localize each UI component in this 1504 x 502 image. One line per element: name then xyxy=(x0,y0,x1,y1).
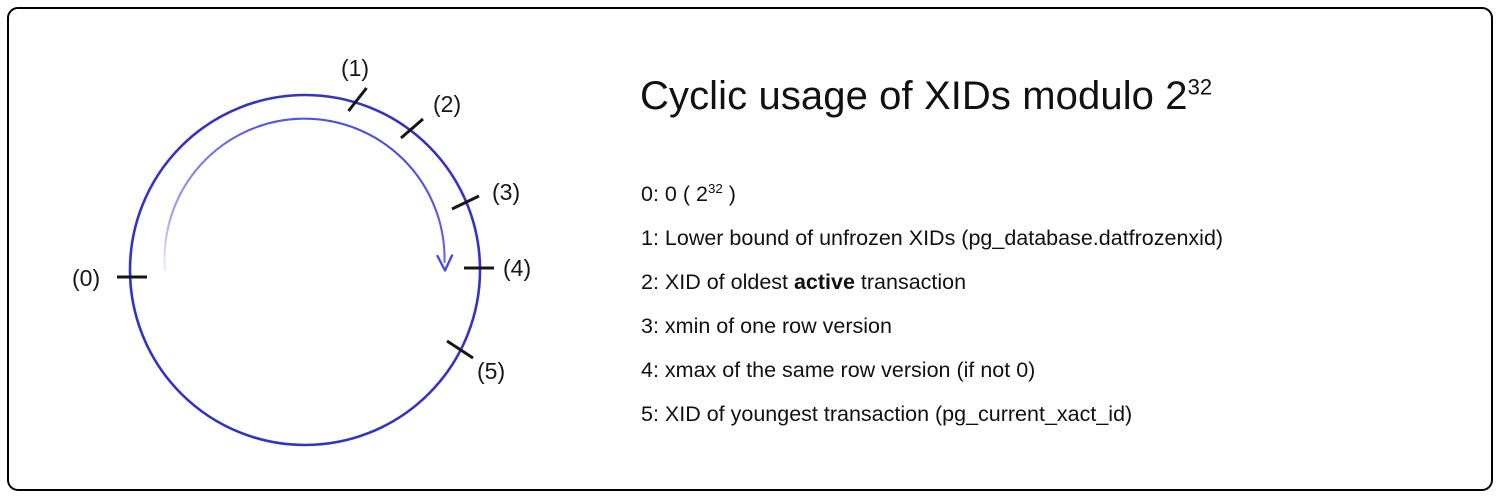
tick-mark-1 xyxy=(349,88,367,111)
xid-cycle-diagram: (0) (1) (2) (3) (4) (5) xyxy=(0,0,610,502)
legend-item-2-text: 2: XID of oldest xyxy=(641,270,794,294)
legend-list: 0: 0 ( 232 ) 1: Lower bound of unfrozen … xyxy=(641,172,1471,436)
tick-label-1: (1) xyxy=(341,55,369,81)
legend-item-0-text: 0: 0 ( 2 xyxy=(641,182,708,206)
text-column: Cyclic usage of XIDs modulo 232 0: 0 ( 2… xyxy=(640,0,1480,502)
legend-item-5: 5: XID of youngest transaction (pg_curre… xyxy=(641,392,1471,436)
tick-label-0: (0) xyxy=(72,265,100,291)
tick-mark-2 xyxy=(401,119,423,138)
legend-item-3: 3: xmin of one row version xyxy=(641,304,1471,348)
figure-title-exponent: 32 xyxy=(1188,75,1213,100)
figure-title: Cyclic usage of XIDs modulo 232 xyxy=(640,72,1212,120)
tick-label-5: (5) xyxy=(477,358,505,384)
tick-label-3: (3) xyxy=(492,179,520,205)
legend-item-1: 1: Lower bound of unfrozen XIDs (pg_data… xyxy=(641,216,1471,260)
direction-arc xyxy=(165,119,445,270)
legend-item-0-exponent: 32 xyxy=(708,181,723,196)
figure-title-text: Cyclic usage of XIDs modulo 2 xyxy=(640,74,1188,118)
tick-label-4: (4) xyxy=(503,255,531,281)
slide-root: (0) (1) (2) (3) (4) (5) Cyclic usage of … xyxy=(0,0,1504,502)
legend-item-3-text: 3: xmin of one row version xyxy=(641,314,892,338)
tick-mark-5 xyxy=(447,341,473,358)
circle-diagram-svg: (0) (1) (2) (3) (4) (5) xyxy=(0,0,610,502)
legend-item-0: 0: 0 ( 232 ) xyxy=(641,172,1471,216)
tick-label-2: (2) xyxy=(433,91,461,117)
cycle-circle xyxy=(130,95,480,445)
legend-item-0-tail: ) xyxy=(723,182,736,206)
legend-item-2: 2: XID of oldest active transaction xyxy=(641,260,1471,304)
legend-item-4: 4: xmax of the same row version (if not … xyxy=(641,348,1471,392)
legend-item-2-tail: transaction xyxy=(855,270,966,294)
legend-item-5-text: 5: XID of youngest transaction (pg_curre… xyxy=(641,402,1132,426)
legend-item-2-emphasis: active xyxy=(794,270,855,294)
legend-item-4-text: 4: xmax of the same row version (if not … xyxy=(641,358,1035,382)
legend-item-1-text: 1: Lower bound of unfrozen XIDs (pg_data… xyxy=(641,226,1223,250)
